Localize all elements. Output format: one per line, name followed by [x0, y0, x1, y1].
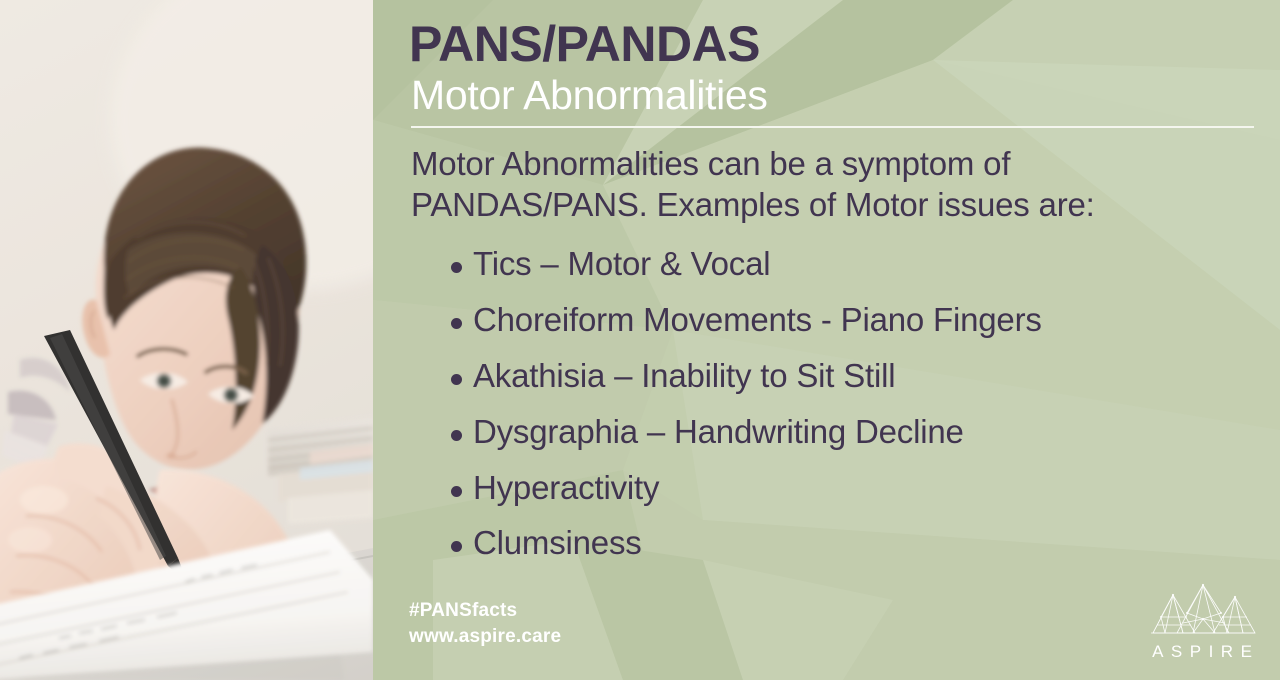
aspire-logo: ASPIRE	[1143, 583, 1261, 660]
bullet-dot-icon	[451, 541, 462, 552]
boy-writing-with-pencil-photo	[0, 0, 373, 680]
page-title: PANS/PANDAS	[409, 18, 1250, 71]
list-item-label: Choreiform Movements - Piano Fingers	[473, 301, 1042, 338]
intro-paragraph: Motor Abnormalities can be a symptom of …	[411, 144, 1241, 226]
hashtag-label: #PANSfacts	[409, 598, 561, 624]
footer-text-block: #PANSfacts www.aspire.care	[409, 598, 561, 650]
list-item-label: Clumsiness	[473, 524, 642, 561]
bullet-dot-icon	[451, 486, 462, 497]
mountain-peaks-icon	[1143, 583, 1261, 641]
list-item-label: Tics – Motor & Vocal	[473, 245, 770, 282]
logo-wordmark: ASPIRE	[1143, 643, 1261, 660]
content-panel: PANS/PANDAS Motor Abnormalities Motor Ab…	[373, 0, 1280, 680]
panel-inner: PANS/PANDAS Motor Abnormalities Motor Ab…	[373, 0, 1280, 680]
infographic-card: PANS/PANDAS Motor Abnormalities Motor Ab…	[0, 0, 1280, 680]
page-subtitle: Motor Abnormalities	[409, 71, 1250, 119]
list-item-label: Hyperactivity	[473, 469, 659, 506]
list-item-label: Akathisia – Inability to Sit Still	[473, 357, 895, 394]
bullet-dot-icon	[451, 318, 462, 329]
list-item: Clumsiness	[409, 525, 1250, 562]
website-link[interactable]: www.aspire.care	[409, 624, 561, 650]
bullet-dot-icon	[451, 374, 462, 385]
photo-panel	[0, 0, 373, 680]
bullet-dot-icon	[451, 430, 462, 441]
list-item-label: Dysgraphia – Handwriting Decline	[473, 413, 964, 450]
list-item: Dysgraphia – Handwriting Decline	[409, 414, 1250, 451]
bullet-dot-icon	[451, 262, 462, 273]
header-divider	[411, 126, 1254, 128]
list-item: Akathisia – Inability to Sit Still	[409, 358, 1250, 395]
list-item: Hyperactivity	[409, 470, 1250, 507]
list-item: Choreiform Movements - Piano Fingers	[409, 302, 1250, 339]
list-item: Tics – Motor & Vocal	[409, 246, 1250, 283]
footer: #PANSfacts www.aspire.care	[373, 584, 1280, 680]
symptom-list: Tics – Motor & Vocal Choreiform Movement…	[409, 246, 1250, 563]
